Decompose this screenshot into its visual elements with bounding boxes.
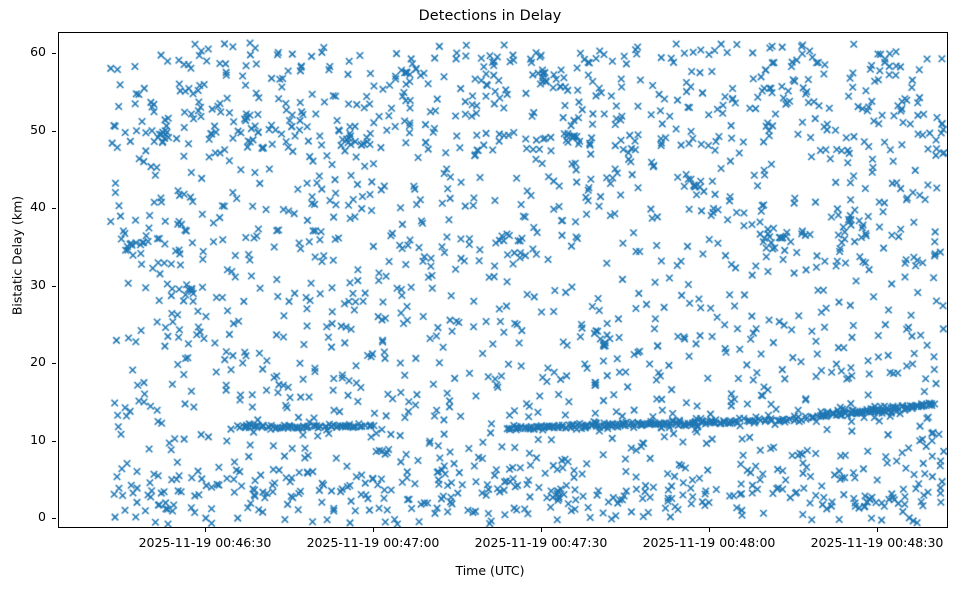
scatter-points-canvas [59, 33, 947, 527]
scatter-plot-figure: Detections in Delay Bistatic Delay (km) … [0, 0, 980, 590]
x-tick-mark [205, 528, 206, 532]
y-tick-mark [52, 363, 56, 364]
y-tick-mark [52, 208, 56, 209]
x-tick-mark [373, 528, 374, 532]
y-tick-label: 40 [0, 199, 46, 214]
y-tick-mark [52, 441, 56, 442]
x-tick-label: 2025-11-19 00:48:00 [619, 535, 799, 550]
y-tick-label: 60 [0, 44, 46, 59]
plot-area [58, 32, 948, 528]
x-tick-mark [877, 528, 878, 532]
y-tick-label: 0 [0, 509, 46, 524]
x-tick-label: 2025-11-19 00:46:30 [115, 535, 295, 550]
y-tick-mark [52, 286, 56, 287]
y-tick-mark [52, 518, 56, 519]
y-tick-mark [52, 53, 56, 54]
y-axis-label: Bistatic Delay (km) [10, 56, 25, 456]
y-tick-label: 30 [0, 277, 46, 292]
x-tick-label: 2025-11-19 00:48:30 [787, 535, 967, 550]
page-title: Detections in Delay [0, 8, 980, 24]
x-tick-mark [541, 528, 542, 532]
x-axis-label: Time (UTC) [0, 563, 980, 578]
y-tick-label: 10 [0, 432, 46, 447]
x-tick-label: 2025-11-19 00:47:30 [451, 535, 631, 550]
y-tick-label: 20 [0, 354, 46, 369]
y-tick-mark [52, 131, 56, 132]
x-tick-mark [709, 528, 710, 532]
x-tick-label: 2025-11-19 00:47:00 [283, 535, 463, 550]
y-tick-label: 50 [0, 122, 46, 137]
